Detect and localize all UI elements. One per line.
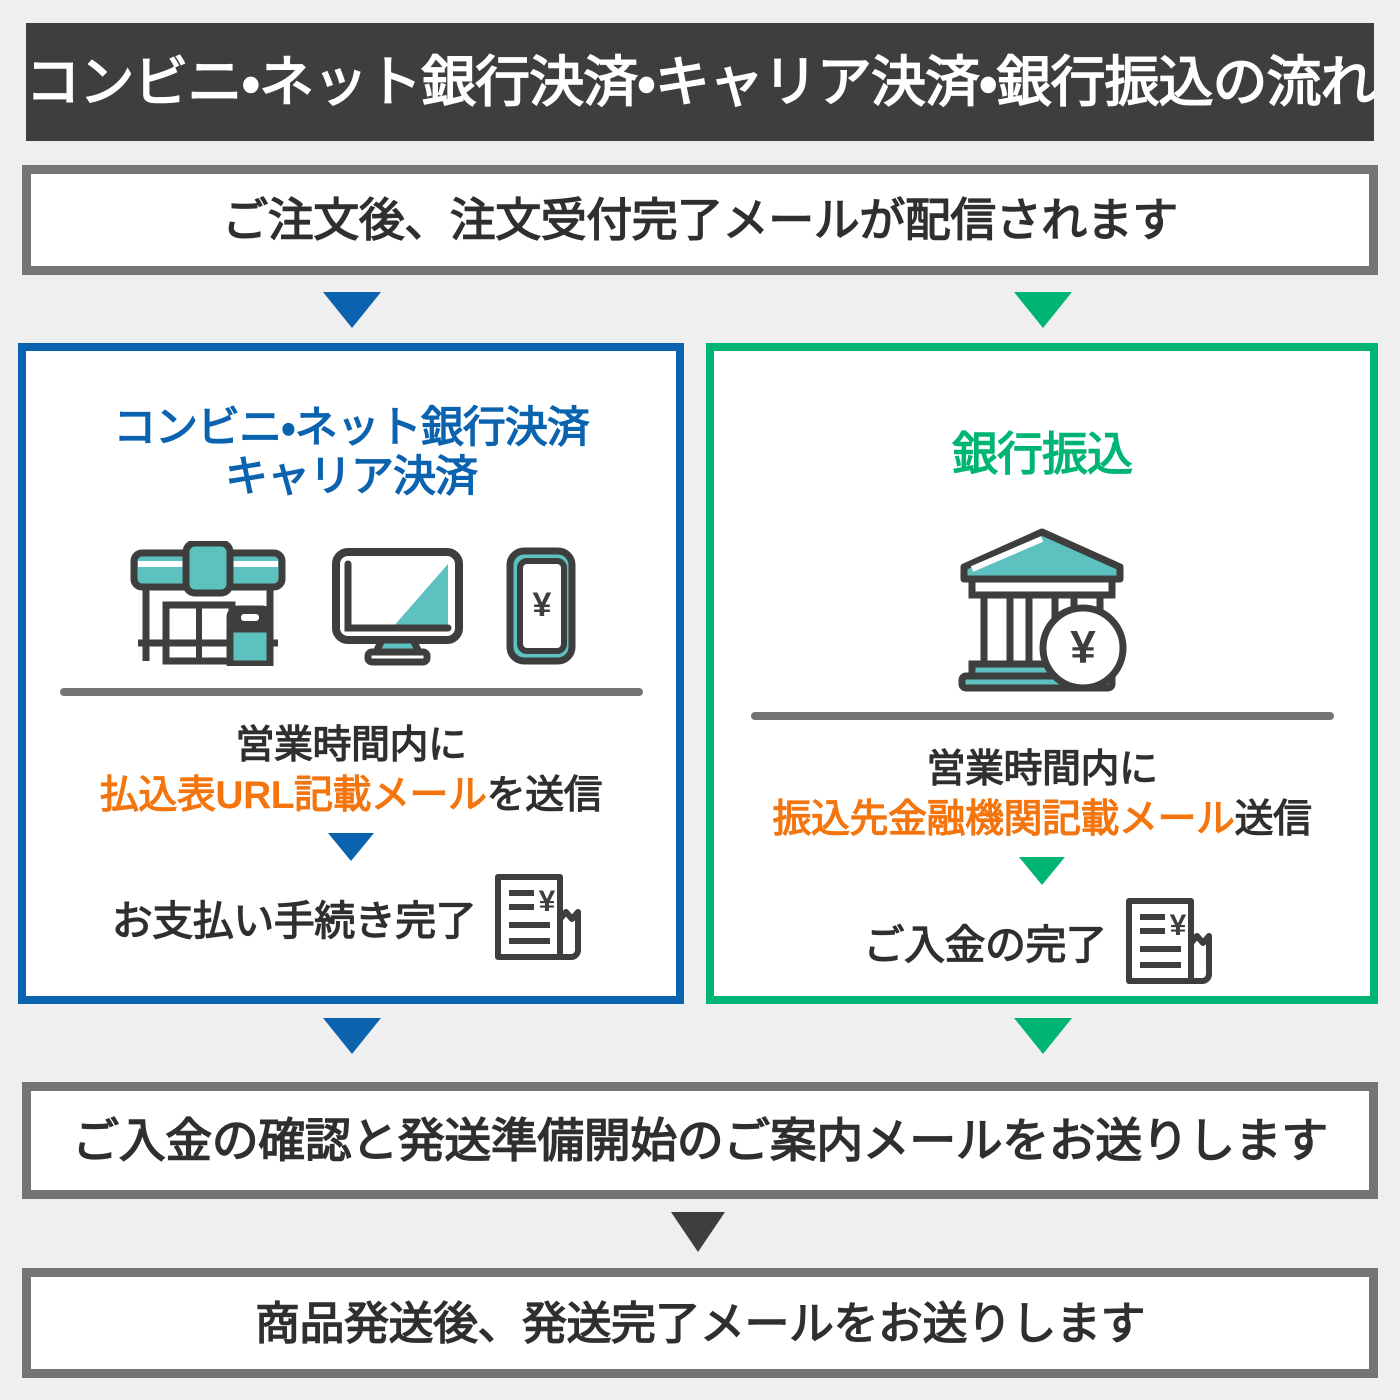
down-arrow-green-icon <box>1014 292 1072 328</box>
panel-furikomi-inner-arrow <box>714 857 1370 885</box>
smartphone-yen-icon: ¥ <box>501 546 579 666</box>
step-payment-confirmed-text: ご入金の確認と発送準備開始のご案内メールをお送りします <box>72 1117 1328 1164</box>
payment-panel-konbini: コンビニ・ネット銀行決済 キャリア決済 <box>18 343 684 1004</box>
down-arrow-green-icon <box>1014 1018 1072 1054</box>
step-shipped-text: 商品発送後、発送完了メールをお送りします <box>255 1301 1145 1346</box>
down-arrow-blue-icon <box>323 1018 381 1054</box>
panel-furikomi-divider <box>751 712 1334 720</box>
panel-furikomi-heading-line1: 銀行振込 <box>952 428 1132 480</box>
arrow-down-from-konbini-panel <box>323 1018 381 1054</box>
konbini-icon-row: ¥ <box>26 541 676 666</box>
panel-konbini-heading-line1: コンビニ・ネット銀行決済 <box>113 404 589 452</box>
down-arrow-green-icon <box>1019 857 1065 885</box>
panel-konbini-note-line1: 営業時間内に <box>235 724 466 767</box>
panel-konbini-heading-line2: キャリア決済 <box>26 453 676 502</box>
arrow-down-to-konbini-panel <box>323 292 381 328</box>
step-shipped-banner: 商品発送後、発送完了メールをお送りします <box>22 1268 1378 1378</box>
svg-text:¥: ¥ <box>539 885 556 918</box>
panel-konbini-result-text: お支払い手続き完了 <box>112 887 477 947</box>
svg-text:¥: ¥ <box>532 586 551 624</box>
down-arrow-blue-icon <box>323 292 381 328</box>
step-order-text: ご注文後、注文受付完了メールが配信されます <box>222 197 1178 243</box>
panel-konbini-divider <box>60 688 643 696</box>
svg-text:¥: ¥ <box>1169 909 1186 942</box>
receipt-yen-icon: ¥ <box>490 871 590 963</box>
panel-furikomi-heading: 銀行振込 <box>714 428 1370 481</box>
panel-furikomi-note-line1: 営業時間内に <box>926 748 1157 791</box>
convenience-store-icon <box>124 541 294 666</box>
arrow-down-to-furikomi-panel <box>1014 292 1072 328</box>
panel-konbini-note: 営業時間内に 払込表URL記載メールを送信 <box>26 721 676 821</box>
svg-text:¥: ¥ <box>1070 621 1096 673</box>
down-arrow-blue-icon <box>328 833 374 861</box>
panel-furikomi-note-suffix: 送信 <box>1235 798 1312 841</box>
arrow-down-from-furikomi-panel <box>1014 1018 1072 1054</box>
page-title: コンビニ・ネット銀行決済・キャリア決済・銀行振込の流れ <box>25 55 1374 110</box>
panel-konbini-note-suffix: を送信 <box>487 774 603 817</box>
panel-furikomi-note-highlight: 振込先金融機関記載メール <box>772 798 1234 841</box>
payment-panel-furikomi: 銀行振込 ¥ 営業時間内に <box>706 343 1378 1004</box>
furikomi-icon-row: ¥ <box>714 527 1370 692</box>
bank-yen-icon: ¥ <box>950 527 1135 692</box>
panel-konbini-heading: コンビニ・ネット銀行決済 キャリア決済 <box>26 404 676 503</box>
panel-konbini-inner-arrow <box>26 833 676 861</box>
monitor-icon <box>330 546 465 666</box>
page-title-bar: コンビニ・ネット銀行決済・キャリア決済・銀行振込の流れ <box>26 23 1374 141</box>
panel-furikomi-result-row: ご入金の完了 ¥ <box>714 895 1370 987</box>
down-arrow-dark-icon <box>671 1212 725 1252</box>
panel-furikomi-note: 営業時間内に 振込先金融機関記載メール送信 <box>714 745 1370 845</box>
step-order-banner: ご注文後、注文受付完了メールが配信されます <box>22 165 1378 275</box>
arrow-down-to-shipped <box>671 1212 725 1252</box>
step-payment-confirmed-banner: ご入金の確認と発送準備開始のご案内メールをお送りします <box>22 1082 1378 1199</box>
receipt-yen-icon: ¥ <box>1121 895 1221 987</box>
panel-furikomi-result-text: ご入金の完了 <box>864 911 1107 971</box>
panel-konbini-note-highlight: 払込表URL記載メール <box>100 774 487 817</box>
panel-konbini-result-row: お支払い手続き完了 ¥ <box>26 871 676 963</box>
